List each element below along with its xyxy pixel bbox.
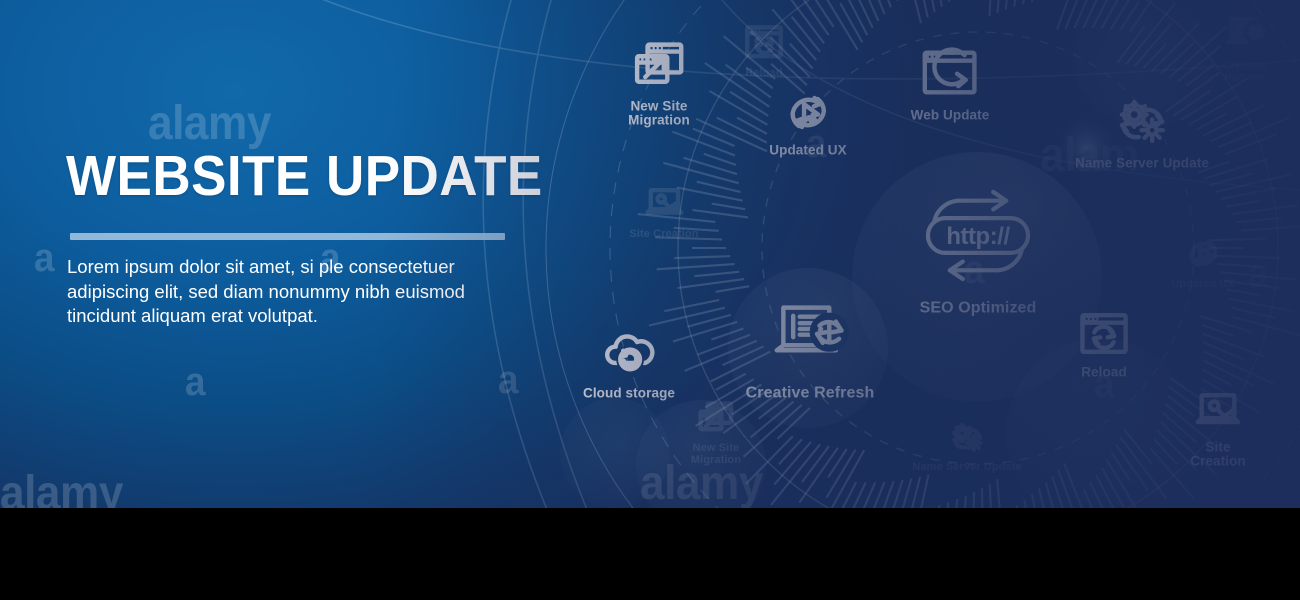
icon-label: New Site Migration xyxy=(628,100,690,128)
browser-curve-icon xyxy=(919,42,981,104)
icon-node-cloud-storage[interactable]: Cloud storage xyxy=(583,324,675,401)
icon-node-new-site-mig-faded[interactable]: New Site Migration xyxy=(691,398,741,466)
icon-label: Updated UX xyxy=(769,144,847,158)
browser-arrow-icon xyxy=(630,37,688,95)
icon-label: Web Update xyxy=(911,109,990,123)
icon-node-updated-ux-right[interactable]: Updated UX xyxy=(1171,234,1234,291)
browser-arrow-icon xyxy=(696,398,736,438)
svg-text:http://: http:// xyxy=(946,223,1010,250)
icon-label: New Site Migration xyxy=(691,443,741,466)
icon-node-site-creation[interactable]: Site Creation xyxy=(1177,388,1259,469)
cursor-refresh-icon xyxy=(1183,234,1223,274)
icon-node-name-server-update[interactable]: Name Server Update xyxy=(1075,96,1209,171)
http-loop-icon: http:// xyxy=(902,180,1054,292)
laptop-refresh-icon xyxy=(769,295,851,377)
icon-cluster: New Site Migration Reload Updated UX Web… xyxy=(0,0,1300,508)
icon-label: Name Server Update xyxy=(912,462,1021,474)
icon-node-creative-refresh[interactable]: Creative Refresh xyxy=(746,295,875,402)
icon-label: Reload xyxy=(1081,366,1127,380)
monitor-pen-icon xyxy=(1194,388,1242,436)
icon-label: Creative Refresh xyxy=(1218,61,1273,84)
hero-banner: alamyaaaaalamyalamyalamaaaa WEBSITE UPDA… xyxy=(0,0,1300,508)
cursor-refresh-icon xyxy=(782,87,834,139)
gears-refresh-icon xyxy=(949,421,985,457)
watermark-bar: alamy Image ID: W18K7X www.alamy.com xyxy=(0,508,1300,600)
cloud-refresh-icon xyxy=(600,324,658,382)
icon-node-name-server-faded[interactable]: Name Server Update xyxy=(912,421,1021,474)
icon-node-creative-refresh-tr[interactable]: Creative Refresh xyxy=(1218,12,1273,84)
gears-refresh-icon xyxy=(1114,96,1170,152)
browser-refresh-icon xyxy=(1077,307,1131,361)
laptop-refresh-icon xyxy=(1223,12,1267,56)
icon-label: Cloud storage xyxy=(583,387,675,401)
icon-node-new-site-migration[interactable]: New Site Migration xyxy=(628,37,690,128)
icon-node-seo-optimized[interactable]: http:// SEO Optimized xyxy=(902,180,1054,317)
icon-node-reload[interactable]: Reload xyxy=(1077,307,1131,380)
icon-label: Site Creation xyxy=(629,229,698,241)
icon-label: Creative Refresh xyxy=(746,385,875,402)
icon-node-web-update[interactable]: Web Update xyxy=(911,42,990,123)
icon-node-reload-faded[interactable]: Reload xyxy=(743,21,785,80)
icon-label: Updated UX xyxy=(1171,279,1234,291)
monitor-pen-icon xyxy=(644,184,684,224)
icon-label: Site Creation xyxy=(1177,441,1259,469)
browser-refresh-icon xyxy=(743,21,785,63)
icon-label: Reload xyxy=(745,68,782,80)
screenshot-root: alamyaaaaalamyalamyalamaaaa WEBSITE UPDA… xyxy=(0,0,1300,600)
icon-node-updated-ux[interactable]: Updated UX xyxy=(769,87,847,158)
icon-label: SEO Optimized xyxy=(920,300,1037,317)
icon-node-site-creation-faded[interactable]: Site Creation xyxy=(629,184,698,241)
icon-label: Name Server Update xyxy=(1075,157,1209,171)
